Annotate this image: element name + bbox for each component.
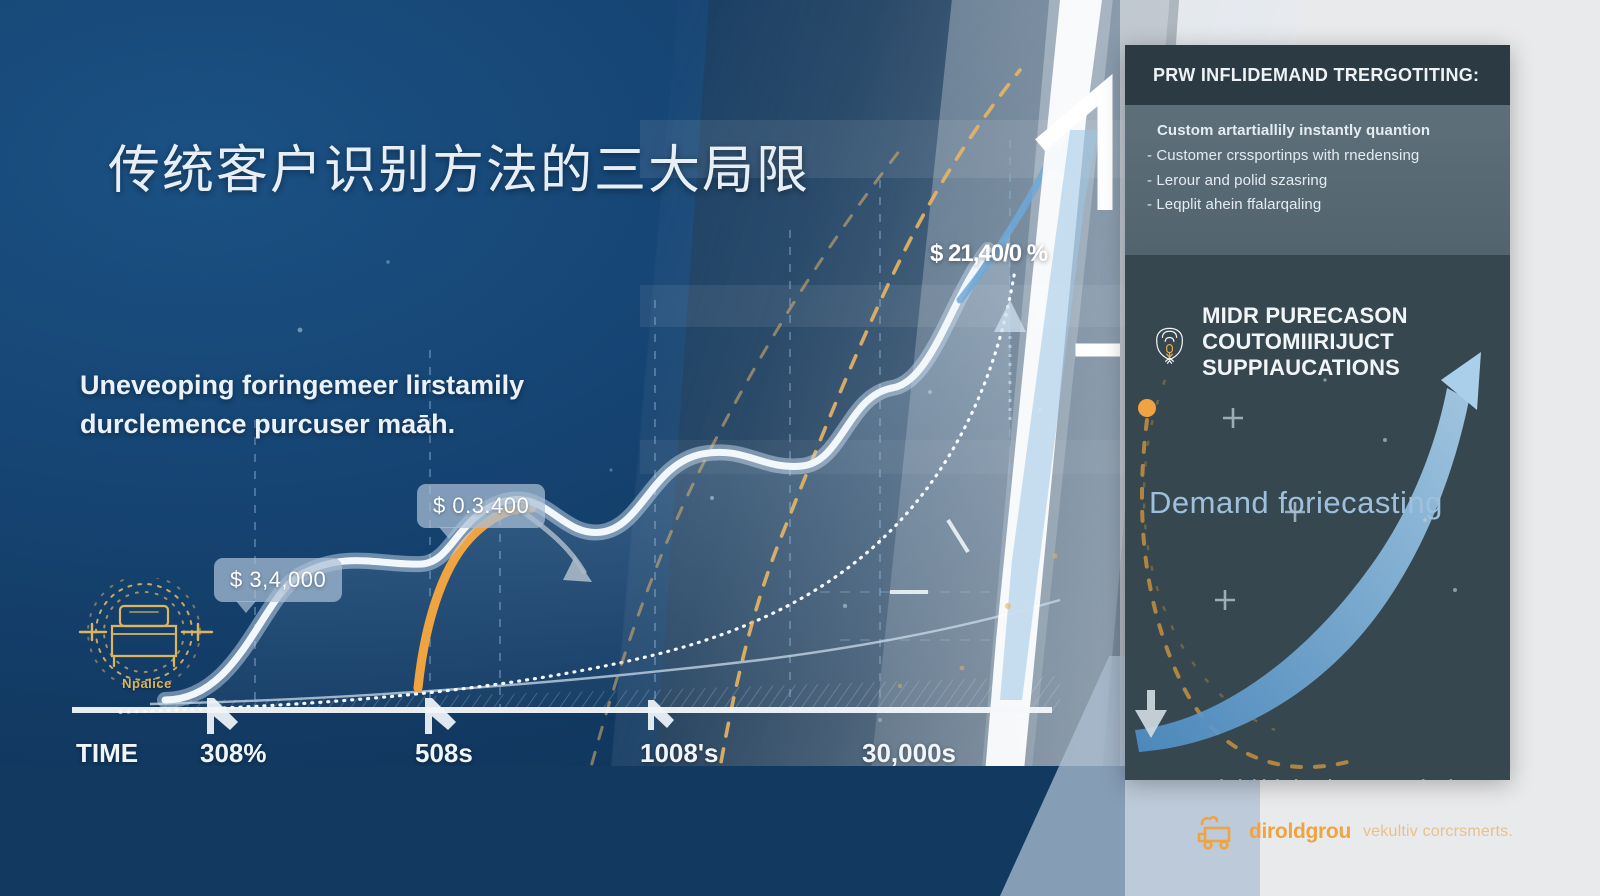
bullet-item-1: - Customer crssportinps with rnedensing: [1147, 144, 1492, 169]
page-title: 传统客户识别方法的三大局限: [108, 128, 810, 203]
right-panel-badge-title: MIDR PURECASON COUTOMIIRIJUCT SUPPIAUCAT…: [1202, 303, 1491, 381]
right-panel-bullet-list: Custom artartiallily instantly quantion …: [1125, 105, 1510, 255]
brand-tagline: vekultiv corcrsmerts.: [1363, 823, 1513, 841]
truck-icon: [1195, 812, 1237, 852]
right-panel-badge: MIDR PURECASON COUTOMIIRIJUCT SUPPIAUCAT…: [1151, 303, 1491, 389]
right-panel-footer-text: Increased : initial phrecise communicati…: [1149, 778, 1509, 780]
panel-arrow-ribbon: [1135, 388, 1469, 752]
gold-circle-icon: Npalice: [72, 578, 222, 710]
gold-icon-caption: Npalice: [72, 676, 222, 691]
chart-peak-label: $ 21,40/0 %: [930, 240, 1047, 268]
bullet-item-0: Custom artartiallily instantly quantion: [1147, 119, 1492, 144]
chart-tooltip-mid[interactable]: $ 0.3.400: [417, 484, 545, 528]
bed-target-icon: [72, 578, 222, 688]
bullet-item-3: - Leqplit ahein ffalarqaling: [1147, 193, 1492, 218]
right-panel: PRW INFLIDEMAND TRERGOTITING: Custom art…: [1125, 45, 1510, 780]
axis-value-4: 30,000s: [862, 740, 956, 767]
chart-tooltip-left[interactable]: $ 3,4,000: [214, 558, 342, 602]
brand-logo: diroldgrou vekultiv corcrsmerts.: [1195, 812, 1513, 852]
panel-gold-dot: [1138, 399, 1156, 417]
bullet-item-2: - Lerour and polid szasring: [1147, 169, 1492, 194]
right-panel-header: PRW INFLIDEMAND TRERGOTITING:: [1125, 45, 1510, 105]
right-panel-demand-text: Demand foriecasting: [1149, 485, 1509, 521]
right-panel-header-title: PRW INFLIDEMAND TRERGOTITING:: [1125, 65, 1479, 86]
infographic-canvas: Npalice 传统客户识别方法的三大局限 Uneveoping foringe…: [0, 0, 1600, 896]
shield-person-icon: [1151, 303, 1188, 389]
brand-name: diroldgrou: [1249, 820, 1351, 844]
axis-value-2: 508s: [415, 740, 493, 767]
axis-value-1: 308%: [200, 740, 267, 767]
page-subtitle: Uneveoping foringemeer lirstamily durcle…: [80, 366, 620, 444]
panel-orbit: [1144, 380, 1275, 730]
footer-base-navy: [0, 766, 1125, 896]
axis-value-3: 1008's: [640, 740, 718, 767]
axis-value-0: TIME: [76, 740, 138, 767]
